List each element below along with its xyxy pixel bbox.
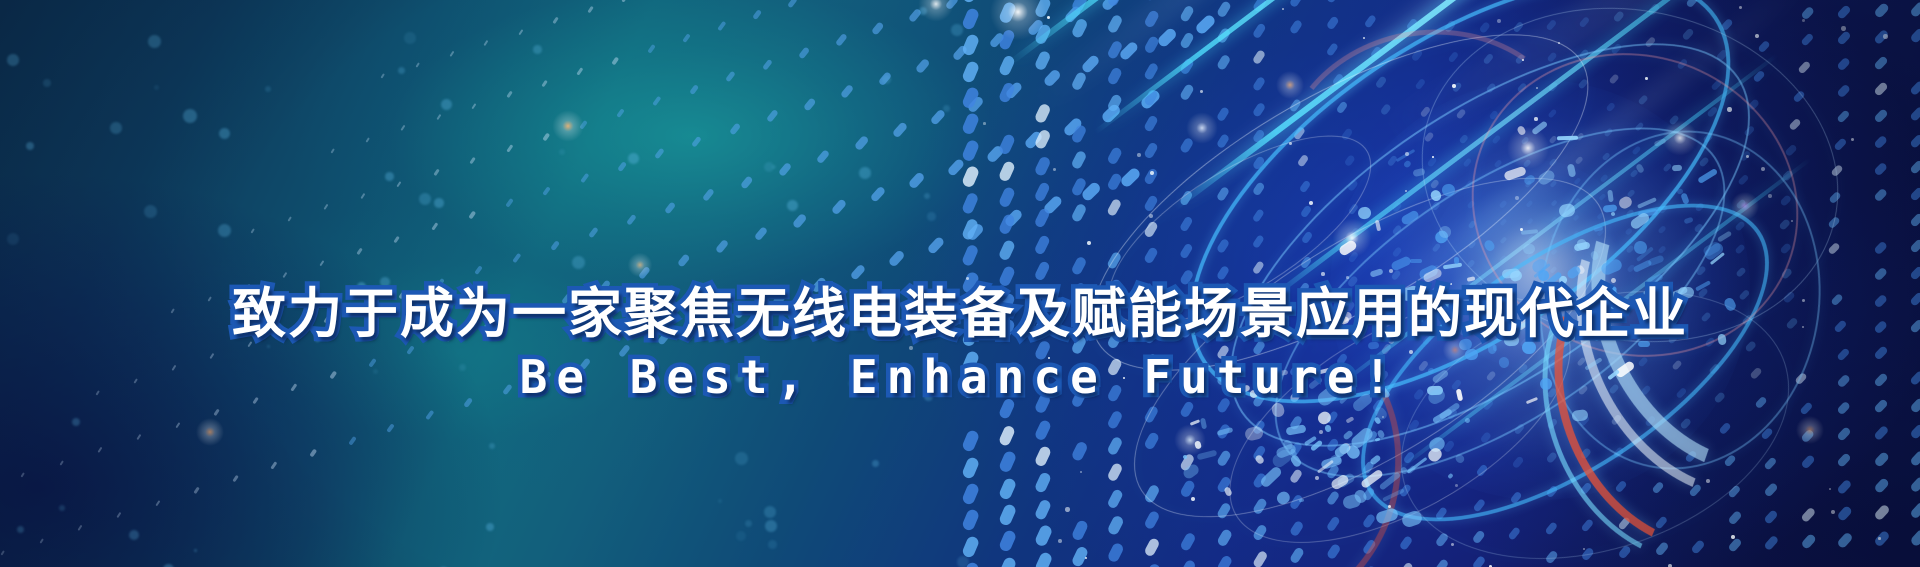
hero-banner: 致力于成为一家聚焦无线电装备及赋能场景应用的现代企业 Be Best, Enha… <box>0 0 1920 567</box>
vignette-overlay <box>0 0 1920 567</box>
